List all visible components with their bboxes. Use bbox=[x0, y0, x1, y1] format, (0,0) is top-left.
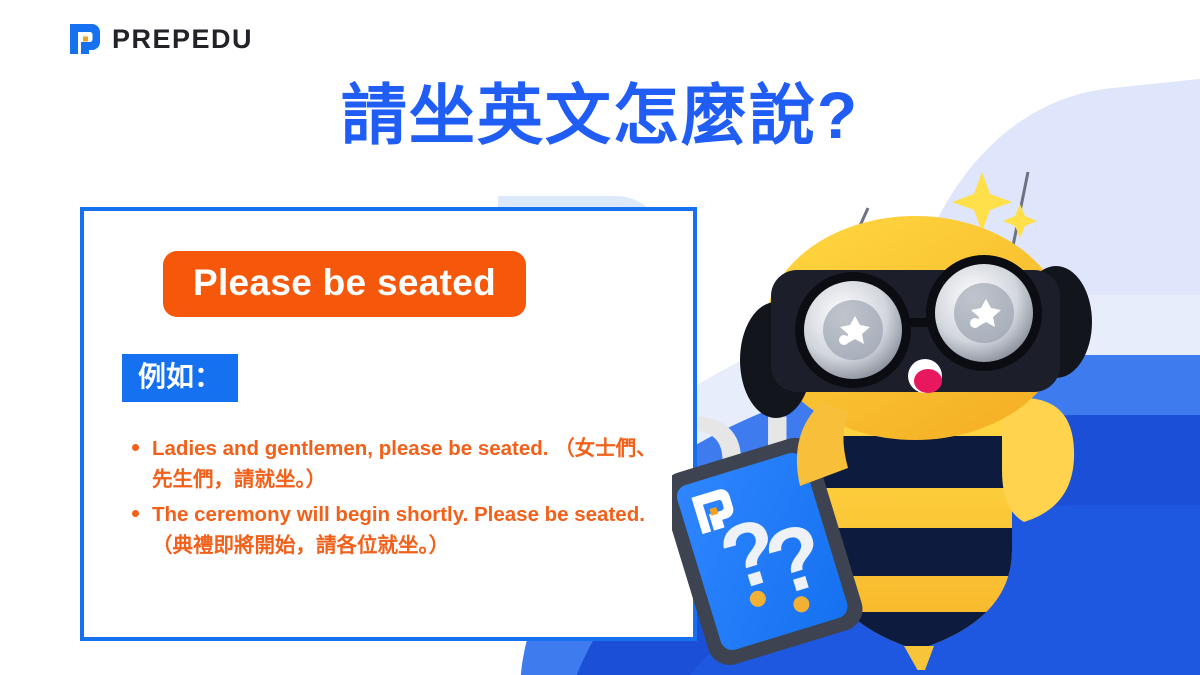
answer-badge: Please be seated bbox=[163, 251, 526, 317]
list-item: The ceremony will begin shortly. Please … bbox=[128, 499, 673, 561]
prepedu-logo-icon bbox=[68, 22, 102, 56]
slide-canvas: PREPEDU PREPEDU 請坐英文怎麼說? Please be seate… bbox=[0, 0, 1200, 675]
bee-mascot-illustration: ? ? bbox=[672, 150, 1142, 670]
eye-right bbox=[926, 255, 1042, 371]
answer-card: Please be seated 例如： Ladies and gentleme… bbox=[80, 207, 697, 641]
list-item: Ladies and gentlemen, please be seated. … bbox=[128, 433, 673, 495]
example-english: The ceremony will begin shortly. Please … bbox=[152, 503, 645, 526]
brand-logo-text: PREPEDU bbox=[112, 26, 253, 53]
bullet-dot-icon bbox=[132, 444, 139, 451]
example-label-badge: 例如： bbox=[122, 354, 238, 402]
example-chinese: （典禮即將開始，請各位就坐。） bbox=[152, 534, 449, 557]
example-english: Ladies and gentlemen, please be seated. bbox=[152, 437, 548, 460]
eye-left bbox=[795, 272, 911, 388]
brand-logo: PREPEDU bbox=[68, 22, 253, 56]
bee-arm bbox=[1002, 398, 1074, 522]
bullet-dot-icon bbox=[132, 510, 139, 517]
page-title: 請坐英文怎麼說? bbox=[0, 78, 1200, 154]
example-list: Ladies and gentlemen, please be seated. … bbox=[128, 433, 673, 566]
mouth bbox=[908, 359, 942, 393]
